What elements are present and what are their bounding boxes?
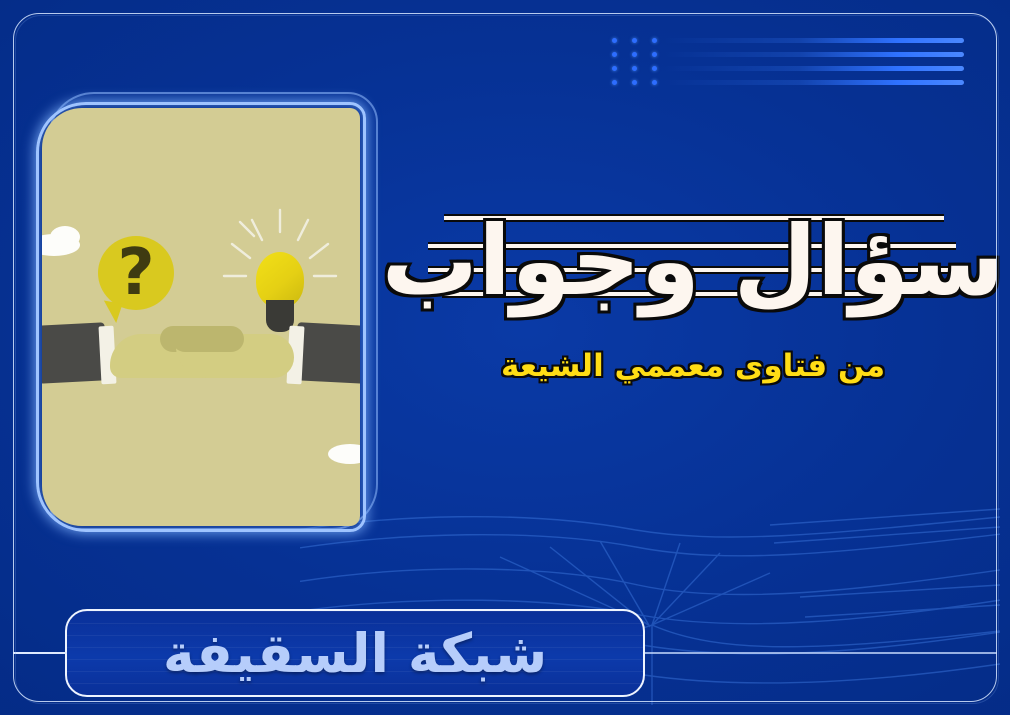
question-mark-icon: ? (98, 234, 174, 312)
speed-line (664, 80, 964, 85)
brand-name: شبكة السقيفة (163, 622, 547, 685)
page-title: سؤال وجواب (428, 196, 958, 326)
banner-left-tick (13, 652, 67, 654)
subtitle: من فتاوى معممي الشيعة (428, 344, 958, 388)
cloud-icon (50, 226, 80, 248)
poster-canvas: ? (0, 0, 1010, 715)
sleeve (295, 322, 360, 384)
cloud-icon (328, 444, 360, 464)
fingers (172, 326, 244, 352)
sleeve (42, 322, 107, 383)
title-block: سؤال وجواب (428, 196, 958, 326)
illustration-panel: ? (42, 108, 360, 526)
speed-line (664, 66, 964, 71)
brand-banner: شبكة السقيفة (65, 609, 645, 697)
banner-right-tick (645, 652, 997, 654)
speed-lines (612, 36, 972, 92)
illustration: ? (36, 96, 376, 536)
speed-line (664, 52, 964, 57)
speed-line (664, 38, 964, 43)
top-right-decoration (612, 36, 972, 92)
